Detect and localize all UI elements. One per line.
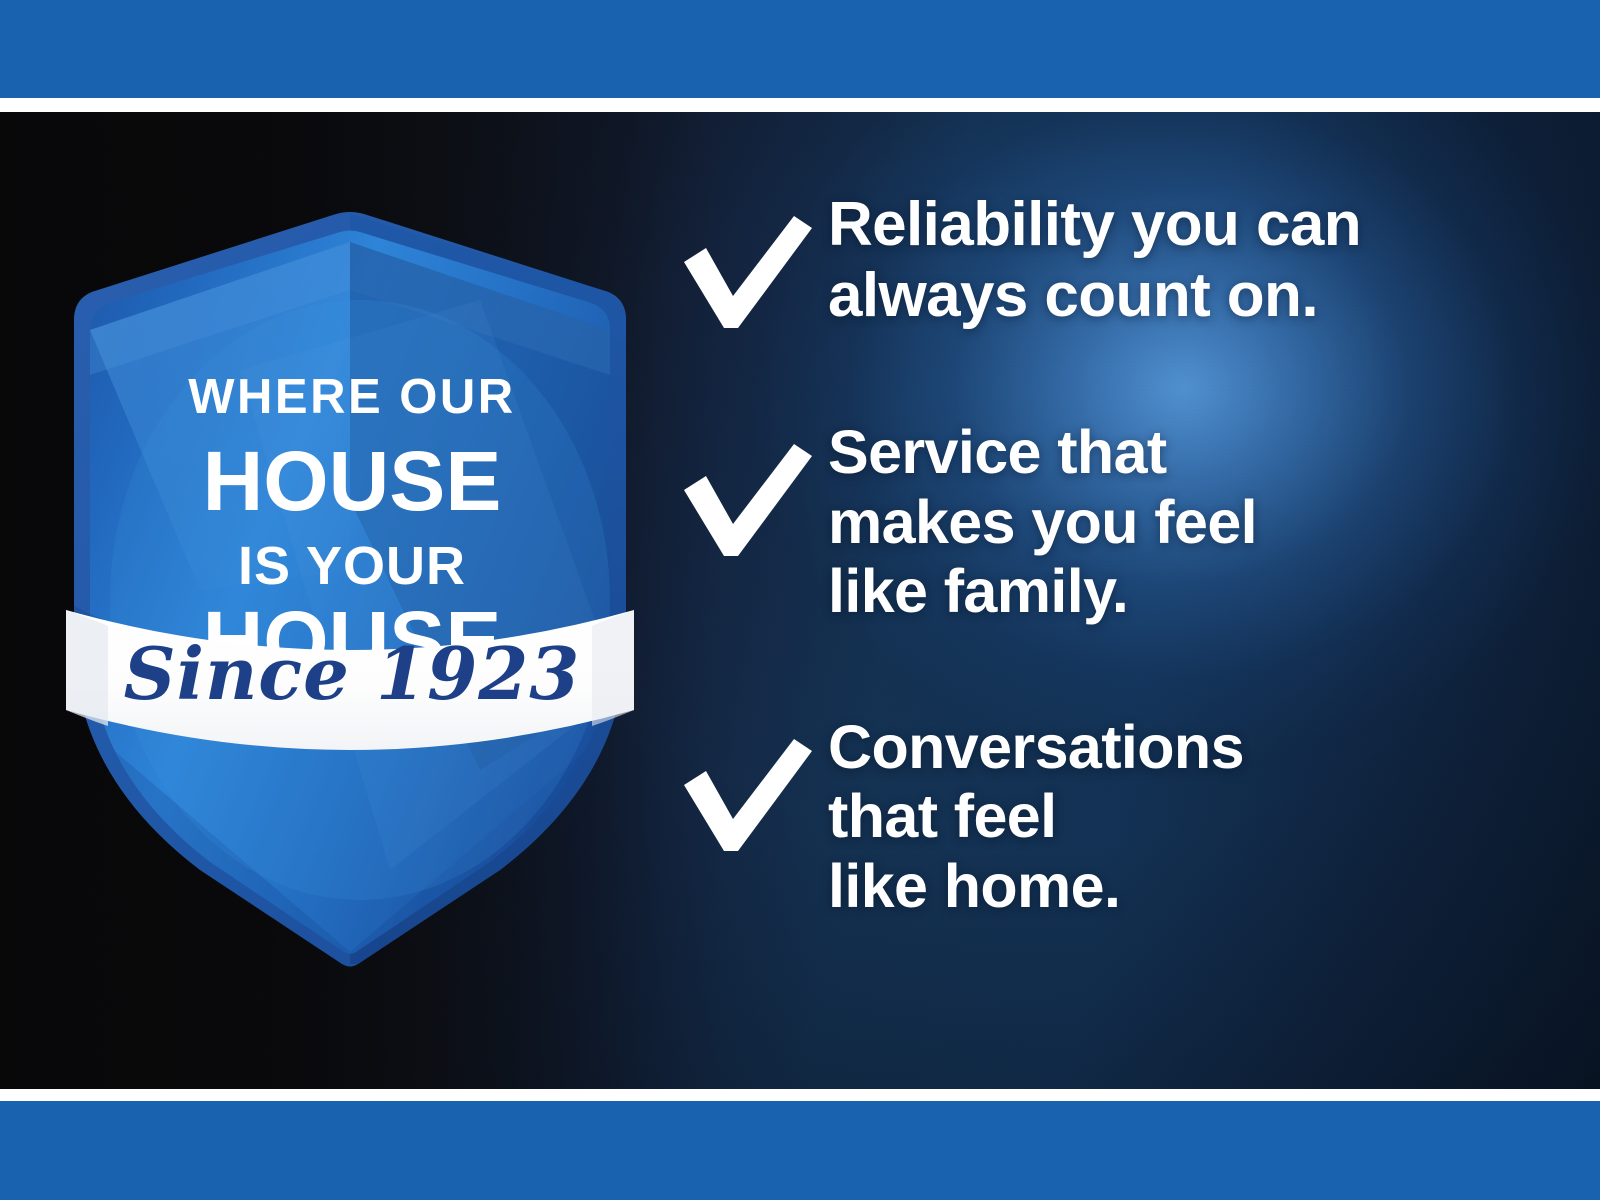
benefit-item: Conversations that feel like home. bbox=[676, 713, 1556, 922]
badge-line-1: WHERE OUR bbox=[188, 370, 515, 424]
checkmark-icon bbox=[676, 418, 828, 560]
benefit-item: Reliability you can always count on. bbox=[676, 190, 1556, 332]
benefit-text: Conversations that feel like home. bbox=[828, 713, 1556, 922]
top-brand-band bbox=[0, 0, 1600, 98]
brand-shield-badge: WHERE OUR HOUSE IS YOUR HOUSE Since 1923 bbox=[60, 170, 640, 960]
badge-line-3: IS YOUR bbox=[238, 536, 466, 596]
promo-graphic: WHERE OUR HOUSE IS YOUR HOUSE Since 1923 bbox=[0, 0, 1600, 1200]
benefit-text: Reliability you can always count on. bbox=[828, 190, 1556, 331]
checkmark-icon bbox=[676, 190, 828, 332]
checkmark-icon bbox=[676, 713, 828, 855]
benefits-list: Reliability you can always count on. Ser… bbox=[676, 190, 1556, 921]
benefit-text: Service that makes you feel like family. bbox=[828, 418, 1556, 627]
benefit-item: Service that makes you feel like family. bbox=[676, 418, 1556, 627]
badge-line-2: HOUSE bbox=[203, 434, 502, 528]
bottom-brand-band bbox=[0, 1101, 1600, 1200]
ribbon-script-text: Since 1923 bbox=[124, 631, 581, 716]
